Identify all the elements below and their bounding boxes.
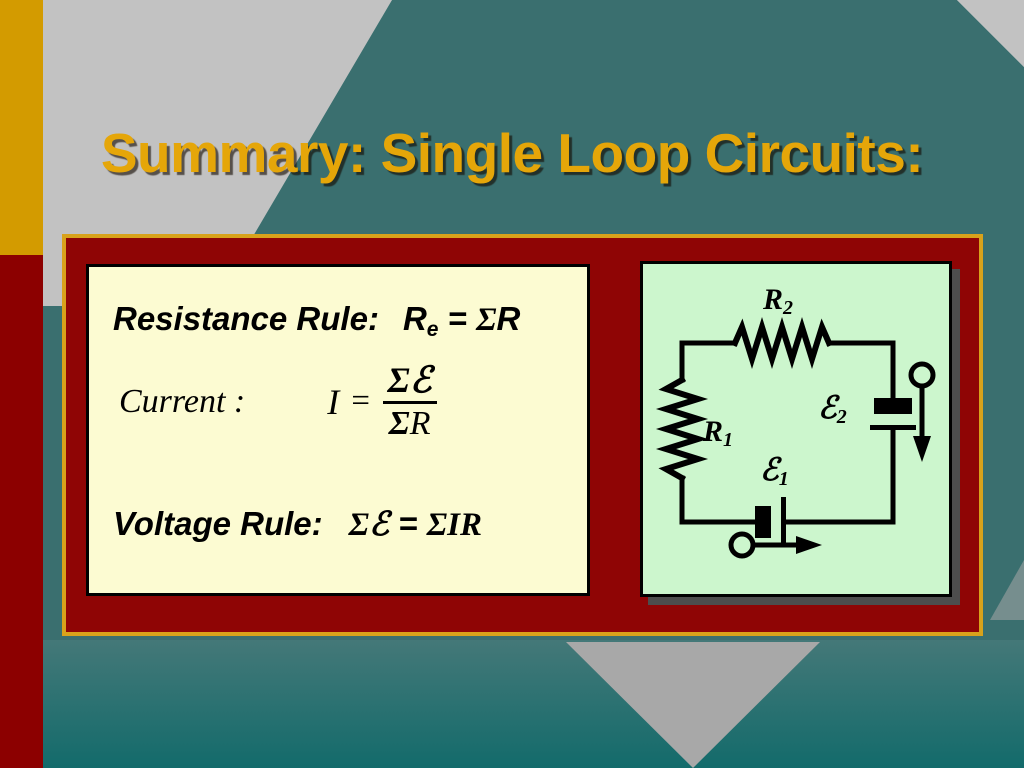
circuit-diagram (0, 0, 1024, 768)
label-emf1: ℰ1 (760, 452, 789, 491)
label-r2-letter: R (763, 283, 783, 316)
slide-canvas: Summary: Single Loop Circuits: Resistanc… (0, 0, 1024, 768)
label-r2-subscript: 2 (783, 297, 793, 319)
label-emf1-subscript: 1 (779, 468, 789, 490)
label-emf2: ℰ2 (818, 390, 847, 429)
label-emf1-letter: ℰ (760, 452, 779, 487)
battery-emf2 (870, 398, 916, 430)
label-r1: R1 (703, 415, 733, 452)
label-emf2-subscript: 2 (837, 406, 847, 428)
label-r1-subscript: 1 (723, 429, 733, 451)
label-r2: R2 (763, 283, 793, 320)
current-arrow-down (911, 364, 933, 462)
current-arrow-right (731, 534, 822, 556)
battery-emf1 (755, 497, 786, 545)
resistor-r1 (666, 380, 698, 478)
label-emf2-letter: ℰ (818, 390, 837, 425)
label-r1-letter: R (703, 415, 723, 448)
resistor-r2 (735, 327, 829, 359)
